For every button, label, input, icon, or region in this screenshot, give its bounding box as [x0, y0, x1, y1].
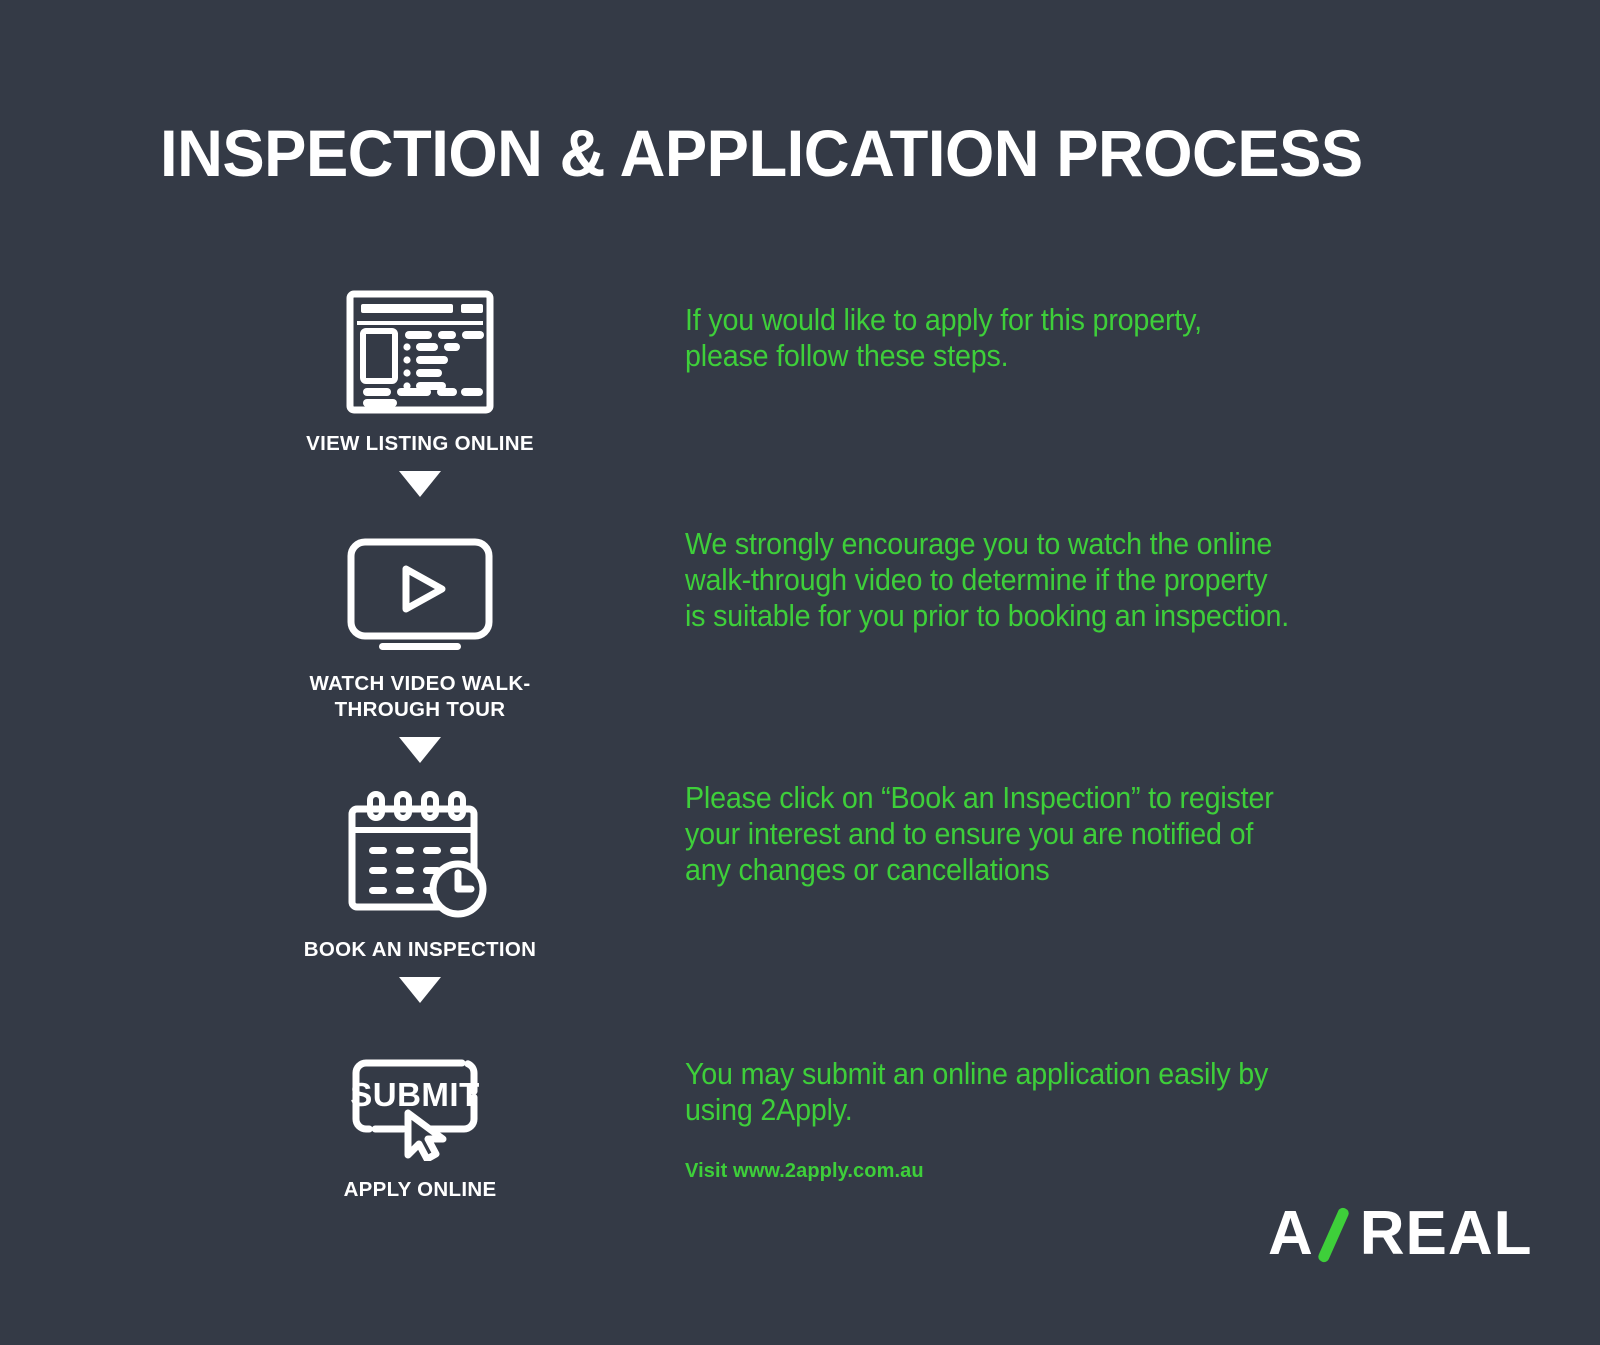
copy-paragraph-2: We strongly encourage you to watch the o… [685, 527, 1428, 635]
step-label-view-listing-online: VIEW LISTING ONLINE [275, 431, 565, 457]
step-apply-online: SUBMIT APPLY ONLINE [275, 1011, 565, 1203]
copy-paragraph-3: Please click on “Book an Inspection” to … [685, 781, 1399, 889]
step-book-an-inspection: BOOK AN INSPECTION [275, 771, 565, 1003]
submit-icon-text: SUBMIT [350, 1076, 480, 1113]
visit-link[interactable]: Visit www.2apply.com.au [685, 1160, 924, 1183]
video-monitor-play-icon [275, 505, 565, 655]
page-title: INSPECTION & APPLICATION PROCESS [160, 120, 1398, 186]
copy-paragraph-1: If you would like to apply for this prop… [685, 303, 1399, 375]
copy-paragraph-4: You may submit an online application eas… [685, 1057, 1399, 1129]
logo-word-real: REAL [1360, 1203, 1533, 1265]
step-label-book-an-inspection: BOOK AN INSPECTION [275, 937, 565, 963]
down-arrow-icon-2 [275, 737, 565, 763]
step-label-apply-online: APPLY ONLINE [275, 1177, 565, 1203]
submit-button-cursor-icon: SUBMIT [275, 1011, 565, 1161]
down-arrow-icon-3 [275, 977, 565, 1003]
calendar-clock-icon [275, 771, 565, 921]
listing-window-icon [275, 265, 565, 415]
down-arrow-icon-1 [275, 471, 565, 497]
steps-column: VIEW LISTING ONLINE WATCH VIDEO WALK-THR… [275, 265, 565, 1203]
infographic-poster: INSPECTION & APPLICATION PROCESS [0, 0, 1600, 1345]
logo-slash-icon [1314, 1204, 1360, 1264]
brand-logo[interactable]: A REAL [1268, 1196, 1533, 1272]
step-view-listing-online: VIEW LISTING ONLINE [275, 265, 565, 497]
step-label-watch-video: WATCH VIDEO WALK-THROUGH TOUR [275, 671, 565, 723]
step-watch-video: WATCH VIDEO WALK-THROUGH TOUR [275, 505, 565, 763]
logo-letter-a: A [1268, 1203, 1314, 1265]
